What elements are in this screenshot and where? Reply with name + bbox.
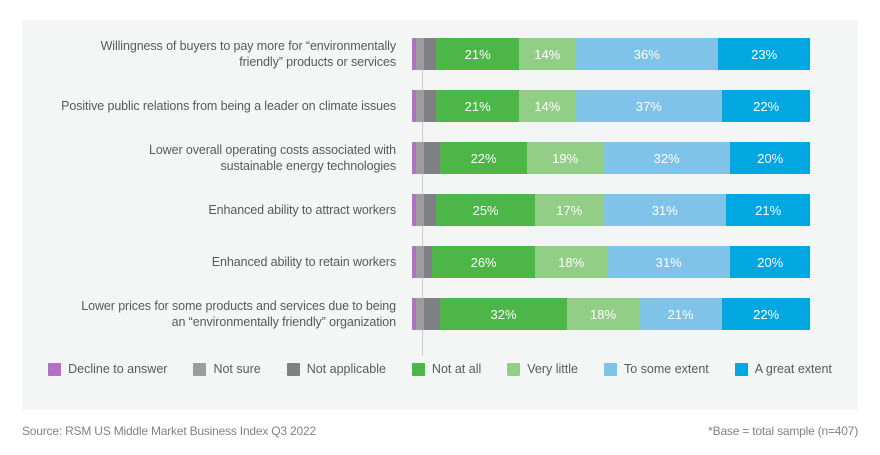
bar-segment: 36% [575,38,718,70]
bar-segment-value: 18% [558,255,584,270]
bar-row: Willingness of buyers to pay more for “e… [22,28,858,80]
bar-segment: 18% [535,246,607,278]
stacked-bar: 21%14%36%23% [412,38,810,70]
bar-segment: 32% [440,298,567,330]
source-note: Source: RSM US Middle Market Business In… [22,424,316,438]
bar-segment-value: 32% [490,307,516,322]
bar-segment: 17% [535,194,603,226]
legend-item[interactable]: Very little [507,362,578,376]
bar-segment-value: 31% [652,203,678,218]
bar-segment-value: 21% [465,99,491,114]
stacked-bar: 26%18%31%20% [412,246,810,278]
legend-label: Very little [527,362,578,376]
bar-segment: 22% [722,298,810,330]
legend-swatch-icon [193,363,206,376]
bar-segment: 31% [607,246,730,278]
legend-item[interactable]: To some extent [604,362,709,376]
bar-segment: 22% [722,90,810,122]
legend-label: Decline to answer [68,362,167,376]
bar-segment-value: 17% [556,203,582,218]
bar-row-label: Positive public relations from being a l… [22,98,410,114]
bar-segment-value: 19% [552,151,578,166]
bar-segment: 21% [436,38,520,70]
bar-segment: 20% [730,142,810,174]
bar-row: Enhanced ability to retain workers26%18%… [22,236,858,288]
bar-row: Positive public relations from being a l… [22,80,858,132]
bar-segment-value: 21% [668,307,694,322]
stacked-bar: 32%18%21%22% [412,298,810,330]
bar-segment: 37% [575,90,722,122]
legend-swatch-icon [412,363,425,376]
bar-segment: 21% [639,298,723,330]
bar-row-label: Lower prices for some products and servi… [22,298,410,330]
bar-segment-value: 36% [634,47,660,62]
bar-segment [424,142,440,174]
bar-segment: 14% [519,90,575,122]
base-note: *Base = total sample (n=407) [708,424,858,438]
bar-segment [424,194,436,226]
bar-segment: 31% [603,194,726,226]
legend-label: Not sure [213,362,260,376]
bar-track: 25%17%31%21% [410,184,810,236]
bar-row-label: Enhanced ability to retain workers [22,254,410,270]
bar-rows: Willingness of buyers to pay more for “e… [22,28,858,340]
bar-segment-value: 23% [751,47,777,62]
bar-segment: 25% [436,194,536,226]
bar-segment-value: 21% [465,47,491,62]
bar-row-label: Lower overall operating costs associated… [22,142,410,174]
stacked-bar: 21%14%37%22% [412,90,810,122]
bar-track: 26%18%31%20% [410,236,810,288]
bar-segment: 14% [519,38,575,70]
chart-figure: Willingness of buyers to pay more for “e… [0,0,880,455]
bar-segment [424,38,436,70]
bar-segment-value: 37% [636,99,662,114]
bar-segment [424,246,432,278]
bar-row-label: Enhanced ability to attract workers [22,202,410,218]
legend-swatch-icon [735,363,748,376]
bar-segment [416,142,424,174]
bar-segment: 19% [527,142,603,174]
bar-segment-value: 21% [755,203,781,218]
bar-row: Lower prices for some products and servi… [22,288,858,340]
bar-segment-value: 31% [656,255,682,270]
legend-label: A great extent [755,362,832,376]
bar-row: Enhanced ability to attract workers25%17… [22,184,858,236]
bar-segment-value: 20% [757,255,783,270]
bar-segment: 20% [730,246,810,278]
bar-row: Lower overall operating costs associated… [22,132,858,184]
bar-segment: 32% [603,142,730,174]
legend-item[interactable]: Not at all [412,362,481,376]
bar-track: 21%14%37%22% [410,80,810,132]
legend-swatch-icon [507,363,520,376]
chart-footer: Source: RSM US Middle Market Business In… [22,420,858,442]
bar-segment-value: 22% [753,99,779,114]
bar-segment-value: 14% [534,47,560,62]
bar-segment-value: 22% [753,307,779,322]
bar-segment-value: 18% [590,307,616,322]
legend-swatch-icon [604,363,617,376]
bar-segment [416,38,424,70]
legend-label: Not at all [432,362,481,376]
bar-segment-value: 20% [757,151,783,166]
legend-label: Not applicable [307,362,386,376]
bar-segment: 22% [440,142,528,174]
bar-segment [416,298,424,330]
chart-legend: Decline to answerNot sureNot applicableN… [22,358,858,380]
bar-segment [416,90,424,122]
legend-item[interactable]: A great extent [735,362,832,376]
bar-segment [424,298,440,330]
legend-label: To some extent [624,362,709,376]
bar-segment [416,194,424,226]
bar-segment-value: 14% [534,99,560,114]
bar-segment: 23% [718,38,810,70]
bar-segment: 26% [432,246,535,278]
bar-row-label: Willingness of buyers to pay more for “e… [22,38,410,70]
bar-segment-value: 22% [471,151,497,166]
stacked-bar: 22%19%32%20% [412,142,810,174]
legend-item[interactable]: Not sure [193,362,260,376]
bar-segment [416,246,424,278]
stacked-bar: 25%17%31%21% [412,194,810,226]
bar-segment-value: 32% [654,151,680,166]
bar-segment: 21% [436,90,520,122]
legend-item[interactable]: Not applicable [287,362,386,376]
legend-swatch-icon [48,363,61,376]
bar-track: 22%19%32%20% [410,132,810,184]
bar-segment-value: 25% [473,203,499,218]
bar-segment-value: 26% [471,255,497,270]
bar-segment: 21% [726,194,810,226]
legend-swatch-icon [287,363,300,376]
bar-segment [424,90,436,122]
plot-panel: Willingness of buyers to pay more for “e… [22,20,858,410]
legend-item[interactable]: Decline to answer [48,362,167,376]
bar-track: 21%14%36%23% [410,28,810,80]
bar-track: 32%18%21%22% [410,288,810,340]
bar-segment: 18% [567,298,639,330]
